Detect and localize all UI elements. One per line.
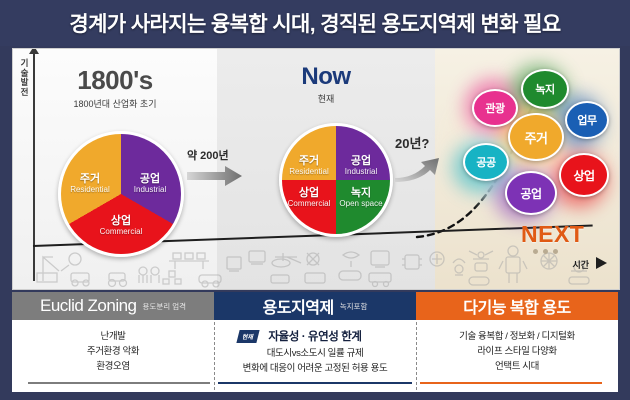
next-label: NEXT [521,221,584,248]
usedistrict-line-3: 변화에 대응이 어려운 고정된 허용 용도 [214,361,416,376]
pie-1800s-label-commercial: 상업 Commercial [93,216,149,236]
pie-1800s-label-industrial: 공업 Industrial [125,174,175,194]
comparison-columns: 난개발 주거환경 악화 환경오염 현재 자율성 · 유연성 한계 대도시vs소도… [12,320,618,392]
transition-200years-label: 약 200년 [187,147,243,163]
column-euclid-zoning: 난개발 주거환경 악화 환경오염 [12,320,214,392]
title-bar: 경계가 사라지는 융복합 시대, 경직된 용도지역제 변화 필요 [0,0,630,46]
bubble-green-space: 녹지 [521,69,569,109]
column-divider-1 [214,322,215,390]
comparison-table: Euclid Zoning 용도분리 엄격 용도지역제 녹지포함 다기능 복합 … [12,292,618,392]
pie-now-label-residential: 주거 Residential [284,156,334,176]
pie-chart-1800s: 주거 Residential 공업 Industrial 상업 Commerci… [58,131,184,257]
page-title: 경계가 사라지는 융복합 시대, 경직된 용도지역제 변화 필요 [69,8,560,38]
era-now-heading: Now 현재 [217,63,435,105]
bubble-tourism: 관광 [472,89,518,127]
current-stamp-badge: 현재 [236,330,259,343]
column-use-district: 현재 자율성 · 유연성 한계 대도시vs소도시 일률 규제 변화에 대응이 어… [214,320,416,392]
era-now-subtitle: 현재 [217,92,435,105]
pie-1800s-label-residential: 주거 Residential [65,174,115,194]
header-euclid-zoning: Euclid Zoning 용도분리 엄격 [12,292,214,320]
bubble-business: 업무 [565,101,609,139]
euclid-line-2: 주거환경 악화 [12,344,214,359]
usedistrict-line-2: 대도시vs소도시 일률 규제 [214,346,416,361]
multifunctional-line-3: 언택트 시대 [416,359,618,374]
transition-20years-label: 20년? [395,133,441,152]
era-1800s-subtitle: 1800년대 산업화 초기 [13,97,217,110]
pie-1800s-slices [61,134,181,254]
euclid-line-3: 환경오염 [12,359,214,374]
pie-now-label-commercial: 상업 Commercial [282,188,336,208]
era-now-title: Now [217,63,435,91]
bubble-industrial: 공업 [505,171,557,215]
pie-now-label-openspace: 녹지 Open space [334,188,388,208]
multifunctional-line-1: 기술 융복합 / 정보화 / 디지털화 [416,329,618,344]
header-multifunctional: 다기능 복합 용도 [416,292,618,320]
x-axis-label: 시간 [572,258,589,271]
infographic-root: 경계가 사라지는 융복합 시대, 경직된 용도지역제 변화 필요 [0,0,630,400]
bubble-commercial: 상업 [559,153,609,197]
comparison-header-row: Euclid Zoning 용도분리 엄격 용도지역제 녹지포함 다기능 복합 … [12,292,618,320]
next-dots [533,249,558,254]
pie-chart-now: 주거 Residential 공업 Industrial 상업 Commerci… [279,123,393,237]
era-1800s-title: 1800's [13,65,217,96]
multifunctional-line-2: 라이프 스타일 다양화 [416,344,618,359]
timeline-canvas: 기술발전 시간 1800's 1800년대 산업화 초기 주거 Resident… [12,48,620,290]
euclid-line-1: 난개발 [12,329,214,344]
bubble-public: 공공 [463,143,509,181]
era-1800s-heading: 1800's 1800년대 산업화 초기 [13,65,217,110]
transition-200years: 약 200년 [187,147,243,192]
header-use-district: 용도지역제 녹지포함 [214,292,416,320]
bubble-residential: 주거 [508,113,564,161]
column-divider-2 [416,322,417,390]
pie-now-label-industrial: 공업 Industrial [336,156,386,176]
transition-20years: 20년? [395,133,441,187]
pie-now-slices [282,126,390,234]
column-multifunctional: 기술 융복합 / 정보화 / 디지털화 라이프 스타일 다양화 언택트 시대 [416,320,618,392]
x-axis-arrow [596,257,607,269]
